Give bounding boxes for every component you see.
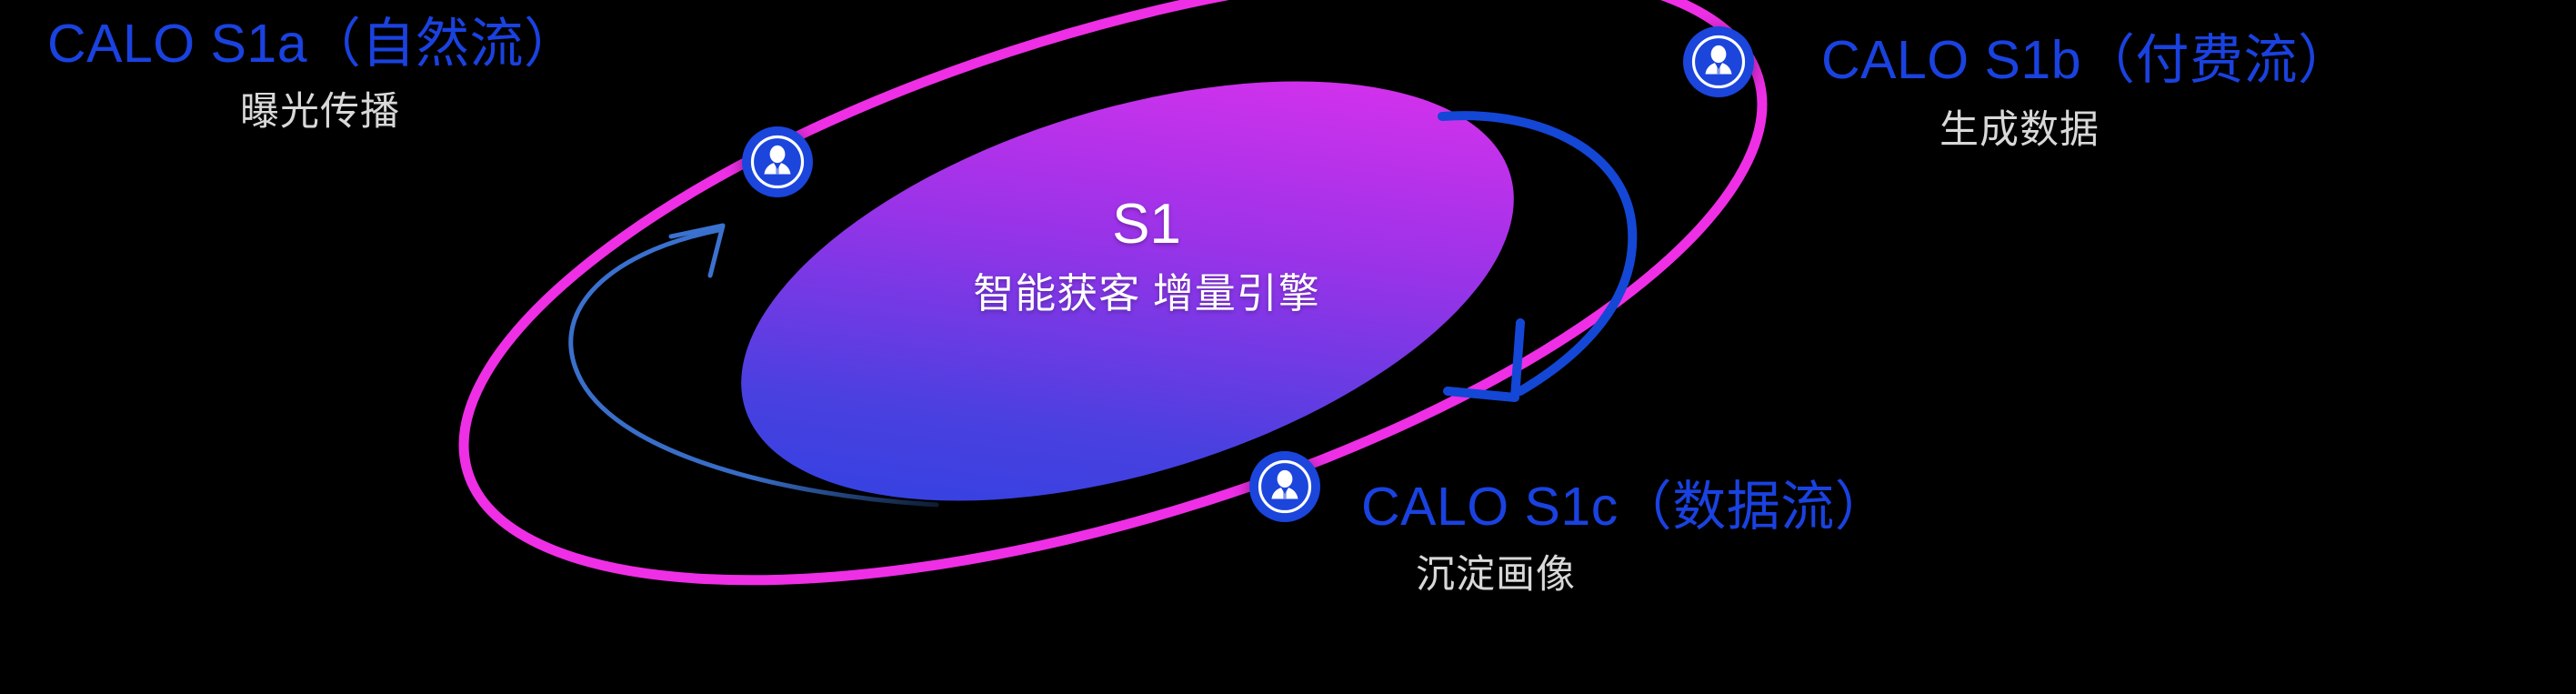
node-s1a[interactable] — [742, 126, 813, 197]
core-title: S1 — [847, 196, 1447, 253]
core-subtitle: 智能获客 增量引擎 — [847, 273, 1447, 314]
label-s1c-title: CALO S1c（数据流） — [1361, 479, 1889, 536]
label-s1c-subtitle: 沉淀画像 — [1416, 554, 1889, 597]
label-s1a-subtitle: 曝光传播 — [240, 91, 578, 134]
label-s1b-subtitle: 生成数据 — [1940, 109, 2352, 152]
node-s1c[interactable] — [1249, 451, 1320, 522]
core-text-block: S1 智能获客 增量引擎 — [847, 196, 1447, 314]
label-s1c: CALO S1c（数据流） 沉淀画像 — [1361, 479, 1889, 597]
label-s1a: CALO S1a（自然流） 曝光传播 — [47, 16, 578, 134]
label-s1b: CALO S1b（付费流） 生成数据 — [1821, 33, 2352, 152]
label-s1b-title: CALO S1b（付费流） — [1821, 33, 2352, 89]
label-s1a-title: CALO S1a（自然流） — [47, 16, 578, 73]
node-s1b[interactable] — [1683, 26, 1754, 97]
diagram-canvas: S1 智能获客 增量引擎 CALO S1a（自然流） 曝光传播 CALO S1b… — [0, 0, 2576, 694]
